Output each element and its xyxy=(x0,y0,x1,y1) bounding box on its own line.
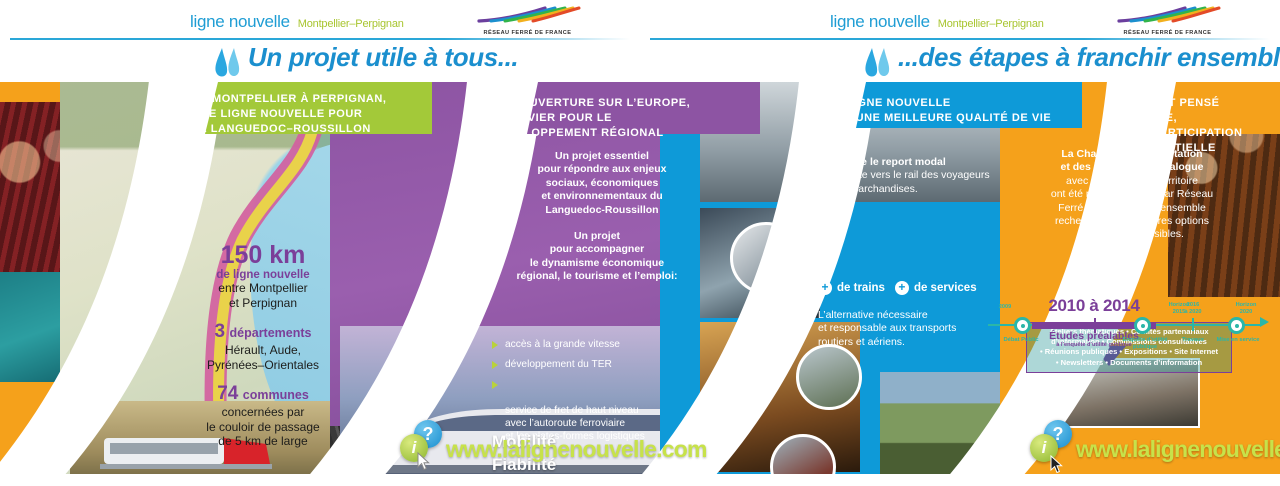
col-2-p1-line-4: et environnementaux du xyxy=(522,190,682,203)
col-2-p1-line-2: pour répondre aux enjeux xyxy=(522,163,682,176)
header-left: ligne nouvelleMontpellier–Perpignan RÉSE… xyxy=(0,0,640,40)
timeline-tick-travaux xyxy=(1192,318,1194,331)
bullet-item-1-label: accès à la grande vitesse xyxy=(505,339,620,350)
stat-3-unit: communes xyxy=(243,388,309,402)
plus-icon: + xyxy=(818,281,832,295)
timeline-year-horizon-2020: Horizon 2020 xyxy=(1228,302,1264,315)
project-timeline: 2009 Débat Public 2010 à 2014 Études pré… xyxy=(988,300,1260,360)
timeline-node-horizon-2015[interactable] xyxy=(1134,317,1151,334)
stat-2-detail-2: Pyrénées–Orientales xyxy=(178,358,348,373)
circle-photo-village xyxy=(796,344,862,410)
quote-drop-icon-right xyxy=(862,46,892,80)
col-3-p1-line-1: Permettre le report modal xyxy=(818,156,1018,169)
col-2-p2-line-1: Un projet xyxy=(512,230,682,243)
col-2-heading-line-1: UNE OUVERTURE SUR L’EUROPE, xyxy=(492,96,722,111)
stat-3-value: 74 xyxy=(217,383,238,404)
col-4-p-line-3: avec les acteurs du territoire xyxy=(1028,175,1236,188)
col-3-p1-line-3: et des marchandises. xyxy=(818,183,1018,196)
map-label-pyrenees: Pyrénées-Orientales xyxy=(98,372,140,384)
rff-swoosh-icon xyxy=(475,6,581,24)
stat-3-detail-3: de 5 km de large xyxy=(178,434,348,449)
stat-3-detail-1: concernées par xyxy=(178,405,348,420)
triangle-bullet-icon xyxy=(492,341,498,349)
col-3-heading-line-2: POUR UNE MEILLEURE QUALITÉ DE VIE xyxy=(818,111,1068,126)
col-2-p2-line-4: régional, le tourisme et l’emploi: xyxy=(512,270,682,283)
timeline-main-period: 2010 à 2014 xyxy=(1030,296,1158,316)
col-2-p2-line-3: le dynamisme économique xyxy=(512,257,682,270)
col-1-heading-line-1: DE MONTPELLIER À PERPIGNAN, xyxy=(192,92,422,107)
chip-de-services: + de services xyxy=(895,281,977,295)
brand-main-label: ligne nouvelle xyxy=(190,12,290,31)
col-2-paragraph-2: Un projet pour accompagner le dynamisme … xyxy=(512,230,682,284)
stat-3-line: 74 communes xyxy=(178,383,348,405)
website-url-left[interactable]: www.lalignenouvelle.com xyxy=(446,436,707,463)
quote-drop-icon-left xyxy=(212,46,242,80)
triangle-bullet-icon xyxy=(492,381,498,389)
chip-de-services-label: de services xyxy=(914,282,977,294)
circle-photo-truck xyxy=(730,222,802,294)
stat-1-detail-1: entre Montpellier xyxy=(178,281,348,296)
col-3-heading-line-1: UNE LIGNE NOUVELLE xyxy=(818,96,1068,111)
col-1-heading-line-2: UNE LIGNE NOUVELLE POUR xyxy=(192,107,422,122)
brand-left: ligne nouvelleMontpellier–Perpignan xyxy=(190,12,404,32)
mouse-cursor-left xyxy=(417,452,430,471)
timeline-year-2009: 2009 xyxy=(992,304,1018,311)
title-right: ...des étapes à franchir ensemble xyxy=(898,42,1280,82)
col-3-paragraph-1: Permettre le report modal de la route ve… xyxy=(818,156,1018,196)
col-4-p-line-6: rechercher les meilleures options xyxy=(1028,215,1236,228)
header-rule-right xyxy=(650,38,1270,40)
timeline-label-enquete-l1: Enquête d’utilité xyxy=(1116,337,1174,344)
chip-de-trains: + de trains xyxy=(818,281,885,295)
map-label-herault: Hérault xyxy=(180,192,199,198)
col-2-p1-line-5: Languedoc-Roussillon xyxy=(522,204,682,217)
timeline-year-2016-2020-l1: 2016 xyxy=(1176,302,1210,309)
col-2-heading-line-2: UN LEVIER POUR LE xyxy=(492,111,722,126)
bullet-item-1: accès à la grande vitesse xyxy=(492,338,672,351)
chip-de-trains-label: de trains xyxy=(837,282,885,294)
rff-logo-text: RÉSEAU FERRÉ DE FRANCE xyxy=(470,30,585,36)
timeline-label-enquete: Enquête d’utilité publique xyxy=(1116,337,1174,351)
rff-logo-left: RÉSEAU FERRÉ DE FRANCE xyxy=(470,6,585,38)
timeline-year-horizon-2020-l1: Horizon xyxy=(1228,302,1264,309)
col-2-p2-line-2: pour accompagner xyxy=(512,243,682,256)
timeline-year-2016-2020: 2016 à 2020 xyxy=(1176,302,1210,315)
timeline-arrow-icon xyxy=(1260,317,1269,327)
col-2-heading: UNE OUVERTURE SUR L’EUROPE, UN LEVIER PO… xyxy=(492,96,722,141)
stat-2-unit: départements xyxy=(230,326,312,340)
col-2-p1-line-3: sociaux, économiques xyxy=(522,177,682,190)
timeline-year-2016-2020-l2: à 2020 xyxy=(1176,309,1210,316)
stat-1-value: 150 km xyxy=(178,242,348,269)
rff-logo-right: RÉSEAU FERRÉ DE FRANCE xyxy=(1110,6,1225,38)
stat-1-detail-2: et Perpignan xyxy=(178,296,348,311)
col-1-heading: DE MONTPELLIER À PERPIGNAN, UNE LIGNE NO… xyxy=(192,92,422,137)
col-4-p-line-5: Ferré de France pour ensemble xyxy=(1028,202,1236,215)
col-2-paragraph-1: Un projet essentiel pour répondre aux en… xyxy=(522,150,682,217)
brand-right: ligne nouvelleMontpellier–Perpignan xyxy=(830,12,1044,32)
col-4-heading: UN PROJET PENSÉ ENSEMBLE, VOTRE PARTICIP… xyxy=(1108,96,1280,156)
timeline-node-horizon-2020[interactable] xyxy=(1228,317,1245,334)
col-4-p-line-7: de passage possibles. xyxy=(1028,228,1236,241)
rff-swoosh-icon-right xyxy=(1115,6,1221,24)
header-right: ligne nouvelleMontpellier–Perpignan RÉSE… xyxy=(640,0,1280,40)
col-4-p-line-4: ont été mises en place par Réseau xyxy=(1028,188,1236,201)
col-4-heading-line-2: VOTRE PARTICIPATION xyxy=(1108,126,1280,141)
stat-2-detail-1: Hérault, Aude, xyxy=(178,343,348,358)
stat-2-value: 3 xyxy=(214,321,225,342)
col-1-stats: 150 km de ligne nouvelle entre Montpelli… xyxy=(178,242,348,449)
stat-2-line: 3 départements xyxy=(178,321,348,343)
col-4-p-line-1: La Charte de la concertation xyxy=(1028,148,1236,161)
col-3-heading: UNE LIGNE NOUVELLE POUR UNE MEILLEURE QU… xyxy=(818,96,1068,126)
infographic-root: ligne nouvelleMontpellier–Perpignan RÉSE… xyxy=(0,0,1280,486)
stat-1-sub: de ligne nouvelle xyxy=(178,269,348,281)
website-url-right[interactable]: www.lalignenouvelle.com xyxy=(1076,436,1280,463)
mouse-cursor-right xyxy=(1050,455,1063,474)
col-4-p-line-2: et des instances de dialogue xyxy=(1028,161,1236,174)
brand-sub-label: Montpellier–Perpignan xyxy=(298,18,404,30)
brand-sub-label-right: Montpellier–Perpignan xyxy=(938,18,1044,30)
stat-3-detail-2: le couloir de passage xyxy=(178,420,348,435)
header-rule-left xyxy=(10,38,630,40)
plus-icon: + xyxy=(895,281,909,295)
timeline-year-horizon-2020-l2: 2020 xyxy=(1228,309,1264,316)
timeline-label-enquete-l2: publique xyxy=(1116,344,1174,351)
col-2-p1-line-1: Un projet essentiel xyxy=(522,150,682,163)
col-4-paragraph: La Charte de la concertation et des inst… xyxy=(1028,148,1236,242)
title-left: Un projet utile à tous... xyxy=(248,42,518,82)
bullet-item-2-label: développement du TER xyxy=(505,359,612,370)
brand-main-label-right: ligne nouvelle xyxy=(830,12,930,31)
map-label-aude: Aude xyxy=(124,300,138,306)
panels-area: Gard Hérault Aude Pyrénées-Orientales xyxy=(0,82,1280,486)
rff-logo-text-right: RÉSEAU FERRÉ DE FRANCE xyxy=(1110,30,1225,36)
col-4-heading-line-1: UN PROJET PENSÉ ENSEMBLE, xyxy=(1108,96,1280,126)
timeline-label-mise-en-service: Mise en service xyxy=(1206,337,1270,344)
triangle-bullet-icon xyxy=(492,361,498,369)
bottom-white-strip xyxy=(0,474,1280,486)
col-2-heading-line-3: DÉVELOPPEMENT RÉGIONAL xyxy=(492,126,722,141)
col-1-heading-line-3: LE LANGUEDOC–ROUSSILLON xyxy=(192,122,422,137)
col-3-p1-line-2: de la route vers le rail des voyageurs xyxy=(818,169,1018,182)
col-3-chip-row: + de trains + de services xyxy=(818,281,977,295)
bullet-item-2: développement du TER xyxy=(492,358,672,371)
